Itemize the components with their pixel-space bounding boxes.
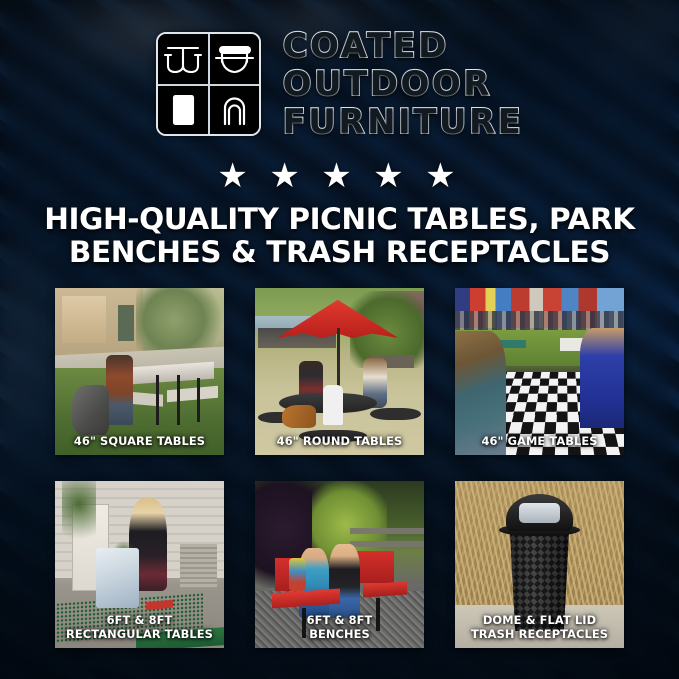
trash-can-icon <box>158 84 209 134</box>
product-caption-game-tables: 46" GAME TABLES <box>455 435 624 448</box>
brand-word-outdoor: OUTDOOR <box>283 66 524 103</box>
bench-icon <box>208 34 259 84</box>
caption-line-1: 6FT & 8FT <box>307 613 373 627</box>
product-card-round-tables[interactable]: 46" ROUND TABLES <box>255 288 424 455</box>
caption-line-1: 46" ROUND TABLES <box>277 434 403 448</box>
caption-line-2: TRASH RECEPTACLES <box>459 628 620 641</box>
product-caption-trash-receptacles: DOME & FLAT LID TRASH RECEPTACLES <box>455 614 624 641</box>
product-grid: 46" SQUARE TABLES 46" ROUND TABLES <box>55 288 624 648</box>
product-card-square-tables[interactable]: 46" SQUARE TABLES <box>55 288 224 455</box>
product-card-game-tables[interactable]: 46" GAME TABLES <box>455 288 624 455</box>
brand-wordmark: COATED OUTDOOR FURNITURE <box>283 26 524 141</box>
product-caption-rectangular-tables: 6FT & 8FT RECTANGULAR TABLES <box>55 614 224 641</box>
brand-word-coated: COATED <box>283 28 524 65</box>
product-caption-square-tables: 46" SQUARE TABLES <box>55 435 224 448</box>
product-card-trash-receptacles[interactable]: DOME & FLAT LID TRASH RECEPTACLES <box>455 481 624 648</box>
brand-word-furniture: FURNITURE <box>283 104 524 141</box>
caption-line-1: DOME & FLAT LID <box>483 613 596 627</box>
caption-line-1: 6FT & 8FT <box>107 613 173 627</box>
caption-line-1: 46" SQUARE TABLES <box>74 434 205 448</box>
product-card-benches[interactable]: 6FT & 8FT BENCHES <box>255 481 424 648</box>
caption-line-1: 46" GAME TABLES <box>481 434 597 448</box>
headline-line-1: HIGH-QUALITY PICNIC TABLES, PARK <box>44 202 634 236</box>
caption-line-2: BENCHES <box>259 628 420 641</box>
star-rating: ★ ★ ★ ★ ★ <box>0 160 679 192</box>
brand-logo: COATED OUTDOOR FURNITURE <box>0 26 679 141</box>
picnic-table-icon <box>158 34 209 84</box>
caption-line-2: RECTANGULAR TABLES <box>59 628 220 641</box>
product-photo-round-tables <box>255 288 424 455</box>
product-card-rectangular-tables[interactable]: 6FT & 8FT RECTANGULAR TABLES <box>55 481 224 648</box>
headline: HIGH-QUALITY PICNIC TABLES, PARK BENCHES… <box>30 203 649 269</box>
product-photo-square-tables <box>55 288 224 455</box>
headline-line-2: BENCHES & TRASH RECEPTACLES <box>30 236 649 269</box>
product-caption-round-tables: 46" ROUND TABLES <box>255 435 424 448</box>
logo-icon-grid <box>156 32 261 136</box>
arch-bench-icon <box>208 84 259 134</box>
product-photo-game-tables <box>455 288 624 455</box>
banner-content: COATED OUTDOOR FURNITURE ★ ★ ★ ★ ★ HIGH-… <box>0 0 679 679</box>
product-caption-benches: 6FT & 8FT BENCHES <box>255 614 424 641</box>
